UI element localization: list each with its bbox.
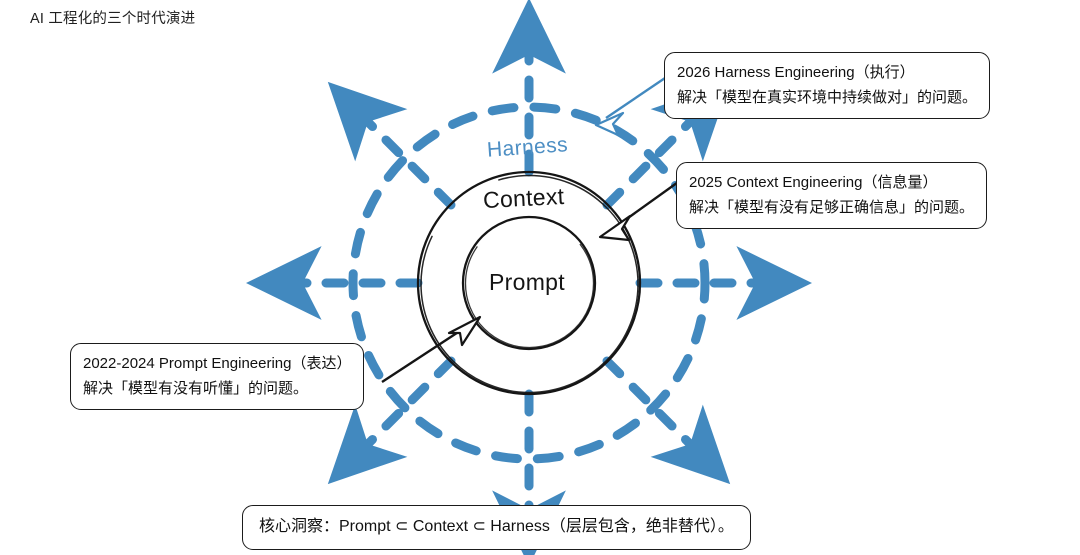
insight-box: 核心洞察：Prompt ⊂ Context ⊂ Harness（层层包含，绝非替… <box>242 505 751 550</box>
callout-prompt-line2: 解决「模型有没有听懂」的问题。 <box>83 376 351 401</box>
context-ring <box>418 172 640 394</box>
prompt-ring <box>463 217 595 349</box>
callout-harness-engineering: 2026 Harness Engineering（执行） 解决「模型在真实环境中… <box>664 52 990 119</box>
callout-context-engineering: 2025 Context Engineering（信息量） 解决「模型有没有足够… <box>676 162 987 229</box>
callout-harness-line1: 2026 Harness Engineering（执行） <box>677 60 977 85</box>
callout-prompt-line1: 2022-2024 Prompt Engineering（表达） <box>83 351 351 376</box>
harness-leader-line <box>596 76 668 135</box>
callout-prompt-engineering: 2022-2024 Prompt Engineering（表达） 解决「模型有没… <box>70 343 364 410</box>
callout-context-line2: 解决「模型有没有足够正确信息」的问题。 <box>689 195 974 220</box>
callout-harness-line2: 解决「模型在真实环境中持续做对」的问题。 <box>677 85 977 110</box>
callout-context-line1: 2025 Context Engineering（信息量） <box>689 170 974 195</box>
radiating-arrows <box>300 52 758 512</box>
